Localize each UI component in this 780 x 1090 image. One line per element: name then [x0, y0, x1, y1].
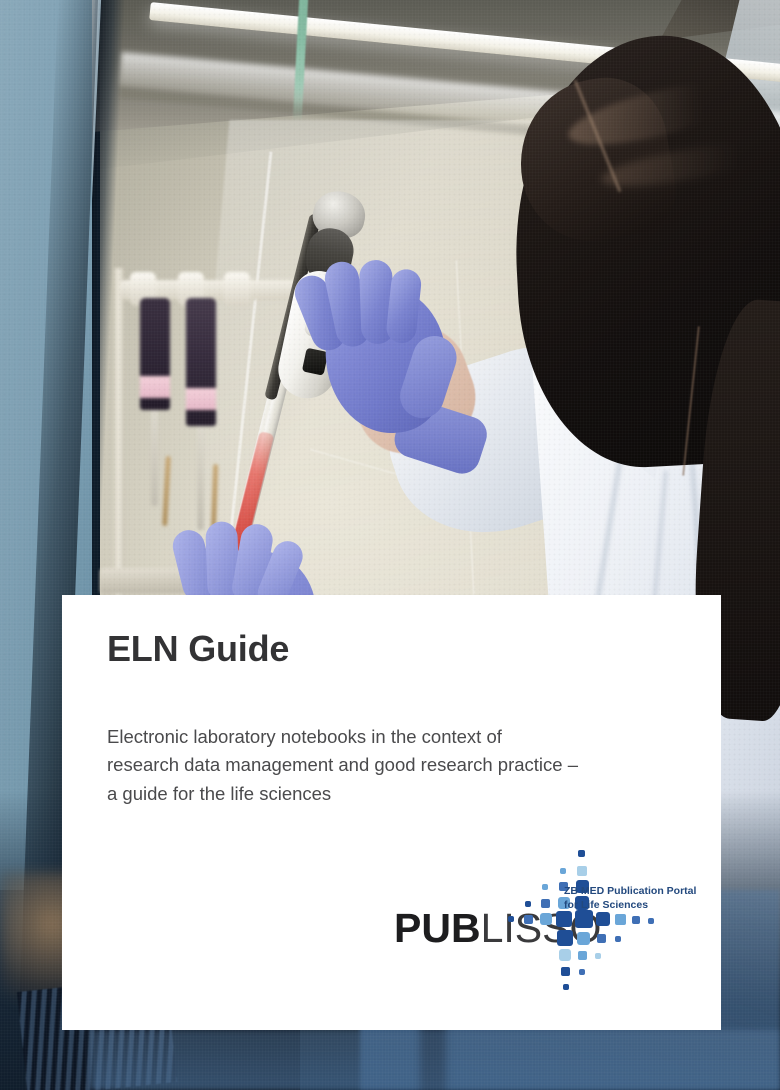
page-title: ELN Guide — [107, 630, 289, 668]
title-card: ELN Guide Electronic laboratory notebook… — [62, 595, 721, 1030]
logo-dot — [575, 910, 593, 928]
subtitle-line-3: a guide for the life sciences — [107, 780, 687, 808]
logo-dot — [563, 984, 569, 990]
publisso-logo: PUBLISSO ZB MED Publication Portal for L… — [394, 850, 686, 988]
book-cover: ELN Guide Electronic laboratory notebook… — [0, 0, 780, 1090]
tagline-line-1: ZB MED Publication Portal — [564, 884, 696, 898]
logo-dot — [556, 911, 572, 927]
logo-dot — [577, 932, 590, 945]
gloved-hand-upper — [291, 254, 470, 460]
logo-dot — [578, 951, 587, 960]
wordmark-pub: PUB — [394, 905, 481, 951]
logo-dot — [560, 868, 566, 874]
pipette-pink-band — [186, 388, 216, 410]
bottom-blue-band — [90, 1030, 780, 1090]
rack-post — [114, 268, 124, 598]
logo-dot — [595, 953, 601, 959]
tagline-line-2: for Life Sciences — [564, 898, 696, 912]
logo-dot — [578, 850, 585, 857]
logo-dot — [540, 913, 552, 925]
subtitle-line-1: Electronic laboratory notebooks in the c… — [107, 723, 687, 751]
publisso-tagline: ZB MED Publication Portal for Life Scien… — [564, 884, 696, 912]
pipette-tip — [151, 410, 158, 506]
logo-dot — [615, 914, 626, 925]
publisso-dot-matrix-icon — [522, 850, 686, 988]
wooden-stick — [162, 456, 171, 526]
logo-dot — [632, 916, 640, 924]
logo-dot — [524, 915, 533, 924]
logo-dot — [557, 930, 573, 946]
subtitle-line-2: research data management and good resear… — [107, 751, 687, 779]
logo-dot — [579, 969, 585, 975]
logo-dot — [508, 916, 514, 922]
logo-dot — [542, 884, 548, 890]
logo-dot — [577, 866, 587, 876]
logo-dot — [561, 967, 570, 976]
logo-dot — [559, 949, 571, 961]
logo-dot — [525, 901, 531, 907]
rack-clip — [224, 272, 250, 306]
subtitle: Electronic laboratory notebooks in the c… — [107, 723, 687, 808]
logo-dot — [615, 936, 621, 942]
logo-dot — [648, 918, 654, 924]
pipette-pink-band — [140, 376, 170, 398]
logo-dot — [597, 934, 606, 943]
logo-dot — [596, 912, 610, 926]
logo-dot — [541, 899, 550, 908]
